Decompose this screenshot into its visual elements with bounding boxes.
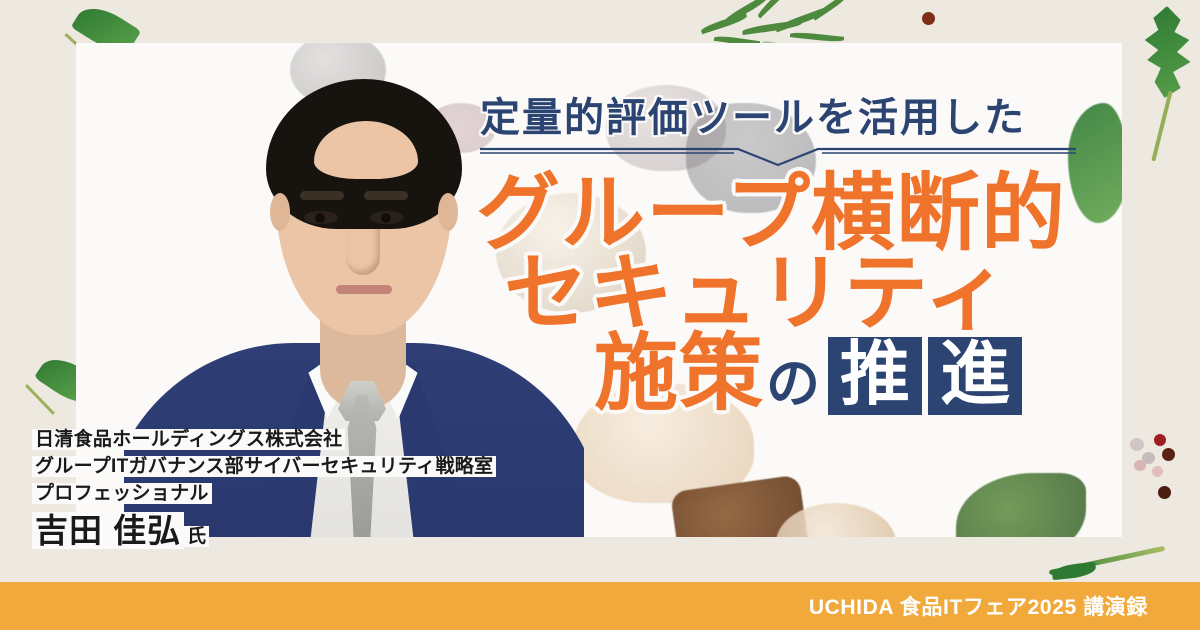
title-line-2: セキュリティ xyxy=(504,251,1102,335)
footer-label: UCHIDA 食品ITフェア2025 講演録 xyxy=(809,591,1148,621)
eyebrow-left-icon xyxy=(300,191,344,200)
ear-right-icon xyxy=(438,193,458,231)
title-box-char-2: 進 xyxy=(928,337,1022,415)
leaf-blob-icon-panel xyxy=(956,473,1086,537)
footer-bar: UCHIDA 食品ITフェア2025 講演録 xyxy=(0,582,1200,630)
title-box-char-1: 推 xyxy=(828,337,922,415)
speaker-credit: 日清食品ホールディングス株式会社 グループITガバナンス部サイバーセキュリティ戦… xyxy=(32,427,496,551)
mouth-icon xyxy=(336,285,392,294)
subtitle-text: 定量的評価ツールを活用した xyxy=(480,85,1092,143)
chevron-down-icon xyxy=(480,146,1076,168)
speaker-role: プロフェッショナル xyxy=(32,483,212,504)
title-line-1: グループ横断的 xyxy=(476,171,1102,255)
title-line-3-particle: の xyxy=(766,357,820,411)
speaker-department: グループITガバナンス部サイバーセキュリティ戦略室 xyxy=(32,456,496,477)
eye-left-icon xyxy=(304,211,338,224)
title-line-3-orange: 施策 xyxy=(594,331,764,415)
speaker-company: 日清食品ホールディングス株式会社 xyxy=(32,429,345,450)
speaker-department-line: グループITガバナンス部サイバーセキュリティ戦略室 xyxy=(32,454,496,481)
speaker-name: 吉田 佳弘 xyxy=(32,512,184,549)
main-title: グループ横断的 セキュリティ 施策 の 推 進 xyxy=(462,171,1102,415)
ear-left-icon xyxy=(270,193,290,231)
speaker-name-line: 吉田 佳弘氏 xyxy=(32,510,209,552)
peppercorn-icon-top xyxy=(922,12,935,25)
subtitle-container: 定量的評価ツールを活用した xyxy=(480,85,1092,143)
speaker-role-line: プロフェッショナル xyxy=(32,481,212,508)
arugula-leaf-icon-top-right xyxy=(1130,6,1200,176)
eyebrow-right-icon xyxy=(364,191,408,200)
eye-right-icon xyxy=(370,211,404,224)
speaker-company-line: 日清食品ホールディングス株式会社 xyxy=(32,427,345,454)
subtitle-underline-rule xyxy=(480,146,1076,168)
peppercorn-cluster-icon-right xyxy=(1128,430,1188,500)
nose-icon xyxy=(346,229,380,275)
speaker-name-suffix: 氏 xyxy=(184,526,209,547)
title-line-3: 施策 の 推 進 xyxy=(594,331,1102,415)
seminar-banner: 定量的評価ツールを活用した グループ横断的 セキュリティ 施策 の 推 進 日清… xyxy=(0,0,1200,630)
